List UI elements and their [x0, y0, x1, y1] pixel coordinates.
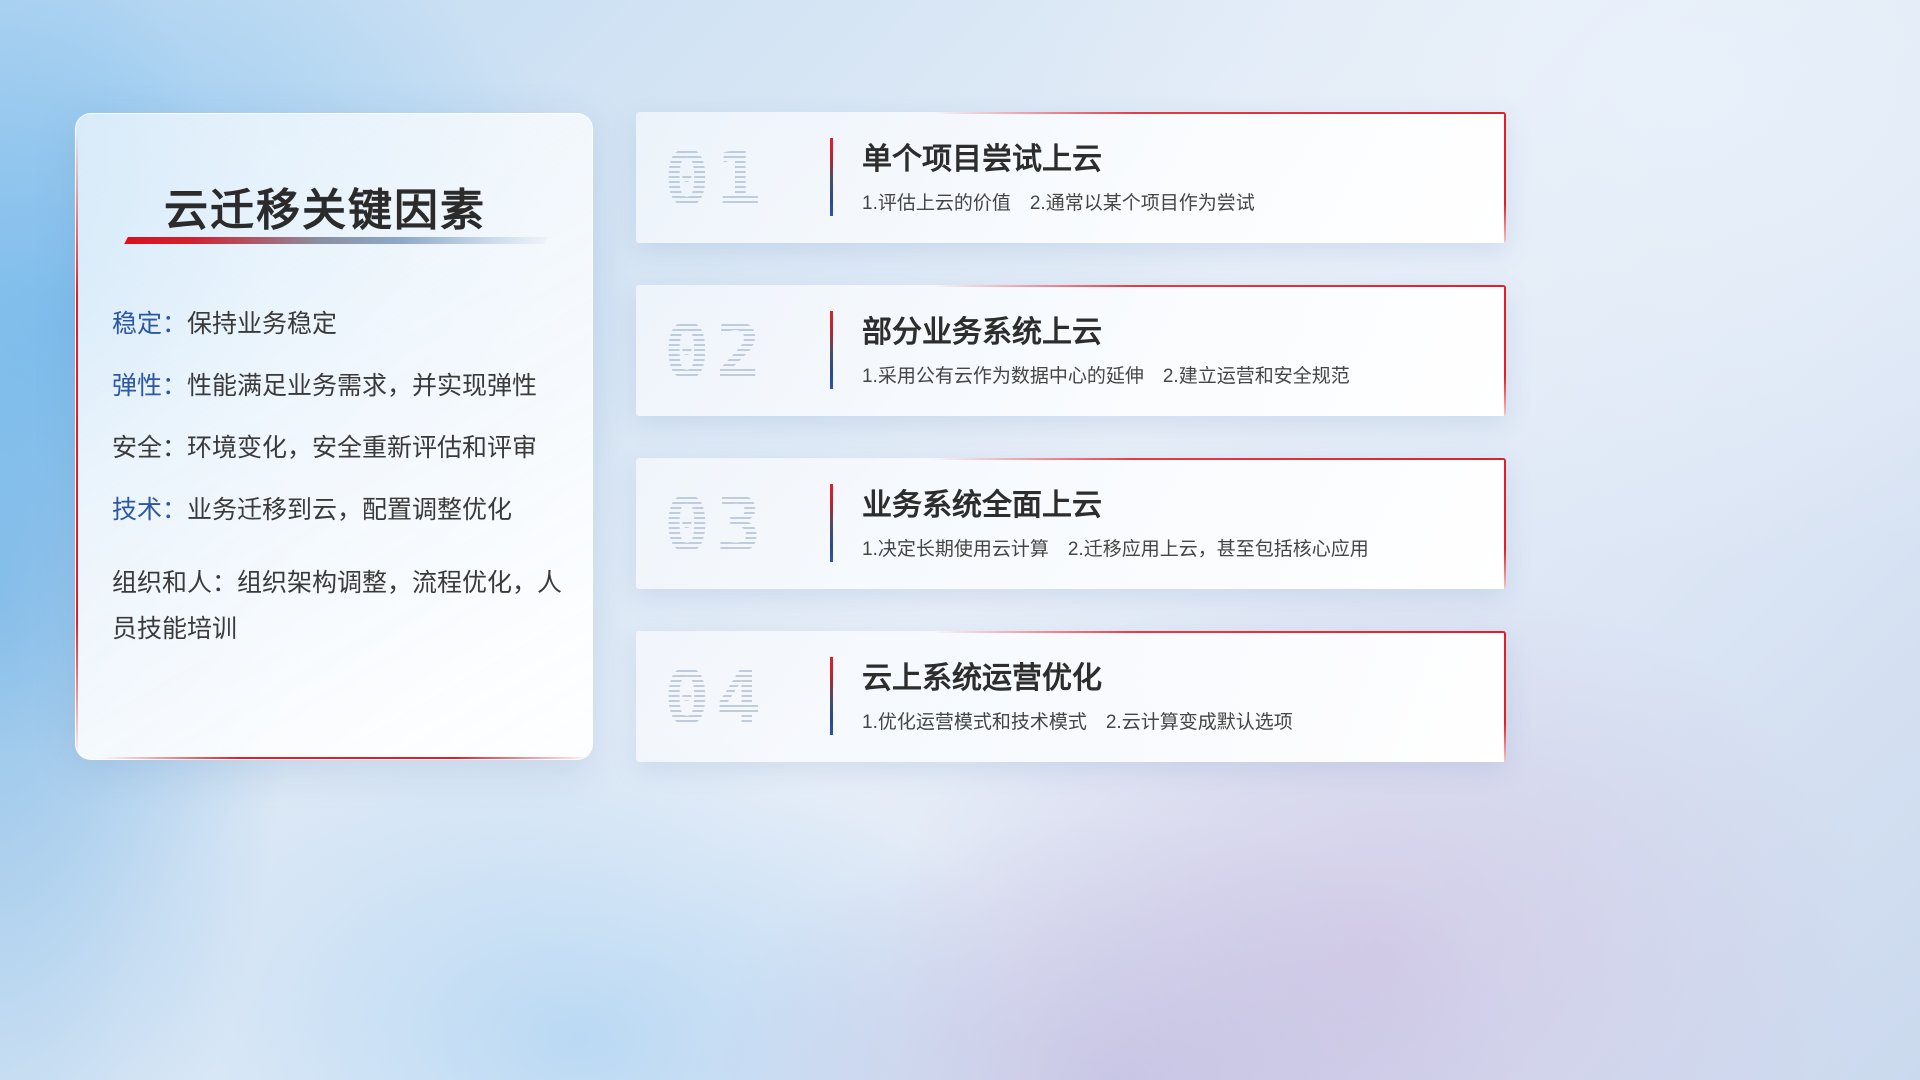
stage-divider-bar — [830, 657, 833, 735]
stage-card[interactable]: 01 单个项目尝试上云 1.评估上云的价值 2.通常以某个项目作为尝试 — [636, 112, 1506, 243]
stage-card[interactable]: 02 部分业务系统上云 1.采用公有云作为数据中心的延伸 2.建立运营和安全规范 — [636, 285, 1506, 416]
stage-subtitle: 1.评估上云的价值 2.通常以某个项目作为尝试 — [862, 188, 1255, 215]
page-title: 云迁移关键因素 — [164, 174, 486, 238]
key-factors-list: 稳定：保持业务稳定 弹性：性能满足业务需求，并实现弹性 安全：环境变化，安全重新… — [112, 312, 570, 690]
list-item: 技术：业务迁移到云，配置调整优化 — [112, 498, 570, 523]
stage-title: 部分业务系统上云 — [862, 307, 1102, 351]
stage-card-list: 01 单个项目尝试上云 1.评估上云的价值 2.通常以某个项目作为尝试 02 部… — [636, 112, 1506, 804]
stage-subtitle: 1.决定长期使用云计算 2.迁移应用上云，甚至包括核心应用 — [862, 534, 1369, 561]
stage-card[interactable]: 04 云上系统运营优化 1.优化运营模式和技术模式 2.云计算变成默认选项 — [636, 631, 1506, 762]
stage-title: 业务系统全面上云 — [862, 480, 1102, 524]
list-item-value: 性能满足业务需求，并实现弹性 — [187, 372, 537, 400]
stage-number-watermark: 02 — [664, 299, 768, 404]
title-underline-gradient — [124, 237, 548, 244]
stage-subtitle: 1.优化运营模式和技术模式 2.云计算变成默认选项 — [862, 707, 1293, 734]
stage-divider-bar — [830, 311, 833, 389]
list-item: 组织和人：组织架构调整，流程优化，人员技能培训 — [112, 560, 570, 653]
list-item: 弹性：性能满足业务需求，并实现弹性 — [112, 374, 570, 399]
stage-subtitle: 1.采用公有云作为数据中心的延伸 2.建立运营和安全规范 — [862, 361, 1350, 388]
stage-card[interactable]: 03 业务系统全面上云 1.决定长期使用云计算 2.迁移应用上云，甚至包括核心应… — [636, 458, 1506, 589]
list-item-value: 环境变化，安全重新评估和评审 — [187, 434, 537, 462]
stage-number-watermark: 03 — [664, 472, 768, 577]
stage-title: 云上系统运营优化 — [862, 653, 1102, 697]
stage-number-watermark: 01 — [664, 126, 768, 231]
list-item-key: 弹性： — [112, 372, 187, 400]
list-item: 安全：环境变化，安全重新评估和评审 — [112, 436, 570, 461]
list-item-value: 保持业务稳定 — [187, 310, 337, 338]
stage-divider-bar — [830, 138, 833, 216]
stage-number-watermark: 04 — [664, 645, 768, 750]
stage-title: 单个项目尝试上云 — [862, 134, 1102, 178]
list-item-key: 安全： — [112, 434, 187, 462]
stage-divider-bar — [830, 484, 833, 562]
list-item-key: 稳定： — [112, 310, 187, 338]
list-item-key: 技术： — [112, 496, 187, 524]
list-item-key: 组织和人： — [112, 569, 237, 597]
key-factors-panel: 云迁移关键因素 稳定：保持业务稳定 弹性：性能满足业务需求，并实现弹性 安全：环… — [75, 113, 593, 760]
list-item-value: 业务迁移到云，配置调整优化 — [187, 496, 512, 524]
list-item: 稳定：保持业务稳定 — [112, 312, 570, 337]
